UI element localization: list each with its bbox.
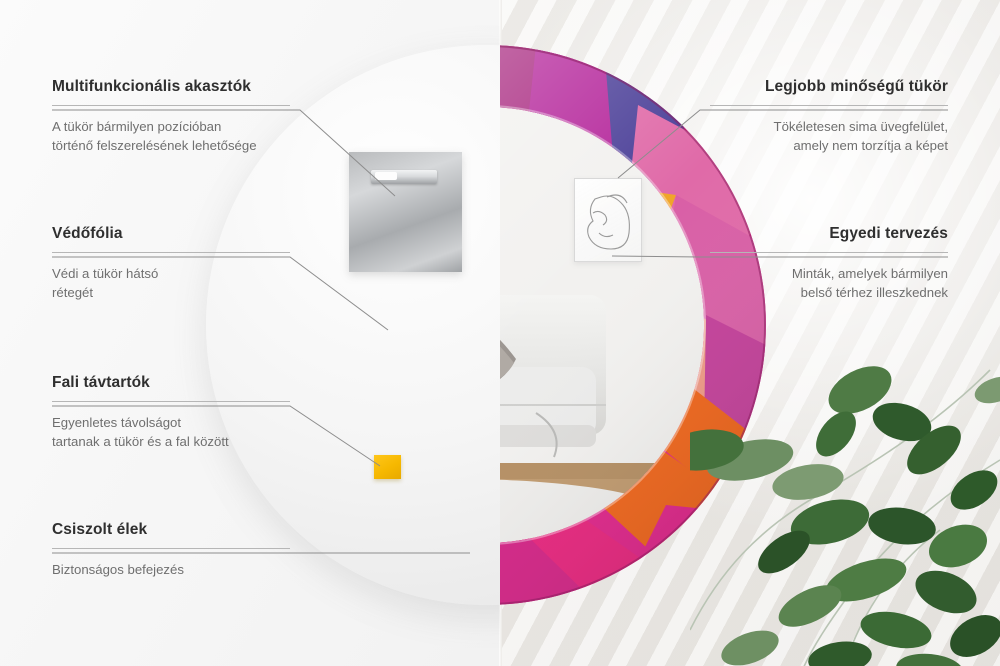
feature-rule [52,252,290,253]
feature-title: Multifunkcionális akasztók [52,78,290,96]
feature-title: Legjobb minőségű tükör [710,78,948,96]
feature-label-best-quality-mirror: Legjobb minőségű tükör Tökéletesen sima … [710,78,948,155]
feature-title: Egyedi tervezés [710,225,948,243]
product-infographic: Multifunkcionális akasztók A tükör bármi… [0,0,1000,666]
feature-label-wall-spacers: Fali távtartók Egyenletes távolságot tar… [52,374,290,451]
feature-title: Fali távtartók [52,374,290,392]
feature-rule [710,252,948,253]
feature-label-multifunctional-hangers: Multifunkcionális akasztók A tükör bármi… [52,78,290,155]
feature-rule [710,105,948,106]
feature-desc: Biztonságos befejezés [52,560,290,579]
feature-rule [52,548,290,549]
feature-desc: Tökéletesen sima üvegfelület, amely nem … [710,117,948,155]
feature-desc: Egyenletes távolságot tartanak a tükör é… [52,413,290,451]
feature-label-polished-edges: Csiszolt élek Biztonságos befejezés [52,521,290,579]
feature-rule [52,401,290,402]
feature-desc: Védi a tükör hátsó rétegét [52,264,290,302]
feature-desc: Minták, amelyek bármilyen belső térhez i… [710,264,948,302]
feature-rule [52,105,290,106]
feature-desc: A tükör bármilyen pozícióban történő fel… [52,117,290,155]
feature-title: Csiszolt élek [52,521,290,539]
feature-title: Védőfólia [52,225,290,243]
feature-label-protective-film: Védőfólia Védi a tükör hátsó rétegét [52,225,290,302]
feature-label-unique-design: Egyedi tervezés Minták, amelyek bármilye… [710,225,948,302]
